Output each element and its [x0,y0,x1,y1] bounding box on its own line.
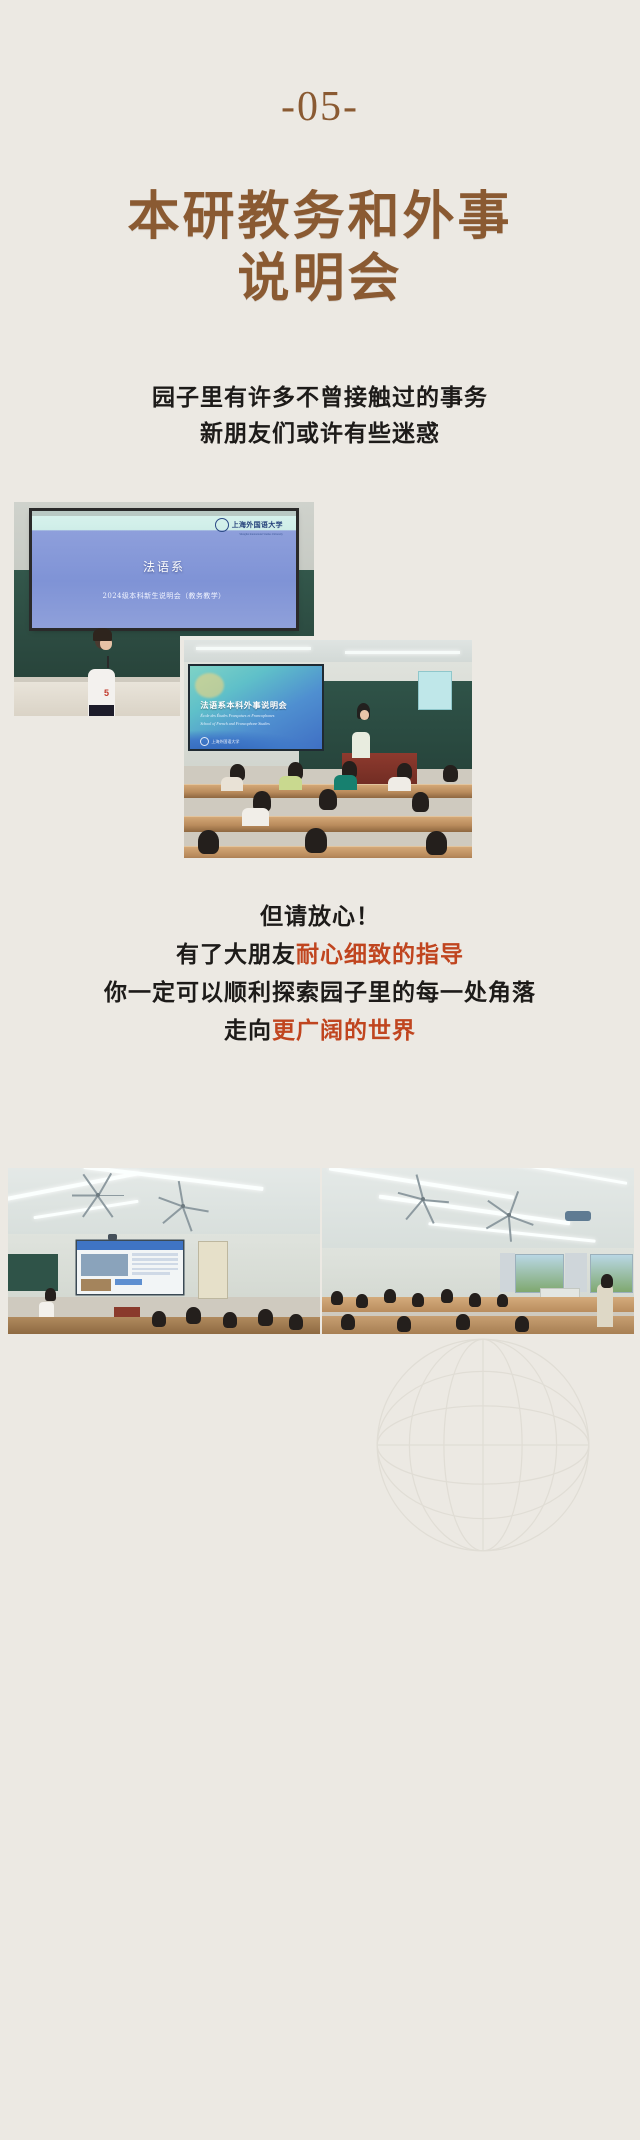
page-title-line1: 本研教务和外事 [127,186,512,247]
reassurance-text-block: 但请放心！ 有了大朋友耐心细致的指导 你一定可以顺利探索园子里的每一处角落 走向… [0,898,640,1050]
globe-watermark-icon [368,1330,598,1560]
midtext-line4-highlight: 更广阔的世界 [272,1017,416,1044]
photo-foreign-affairs-briefing: 法语系本科外事说明会 École des Études Françaises e… [184,640,472,858]
sisu-logo-subtext: Shanghai International Studies Universit… [239,533,282,536]
midtext-line4-prefix: 走向 [224,1017,272,1044]
slide-subtitle-fr: École des Études Françaises et Francopho… [200,713,274,718]
subtitle-line2: 新朋友们或许有些迷惑 [0,416,640,452]
projector-device [565,1211,591,1221]
midtext-line2-highlight: 耐心细致的指导 [296,941,464,968]
projection-screen-foreign-affairs: 法语系本科外事说明会 École des Études Françaises e… [190,666,322,749]
midtext-line2-prefix: 有了大朋友 [176,941,296,968]
sisu-logo: 上海外国语大学 [161,519,282,532]
projection-screen-teaching: 上海外国语大学 Shanghai International Studies U… [32,511,296,629]
sisu-seal-icon [215,518,229,532]
subtitle-block: 园子里有许多不曾接触过的事务 新朋友们或许有些迷惑 [0,380,640,452]
speaker-jersey-number: 5 [104,688,109,698]
sisu-logo-text: 上海外国语大学 [232,520,283,530]
subtitle-line1: 园子里有许多不曾接触过的事务 [0,380,640,416]
audience-rows [184,758,472,858]
projection-screen-left-photo [77,1241,183,1294]
slide-sisu-seal-icon [200,737,209,746]
midtext-line3: 你一定可以顺利探索园子里的每一处角落 [0,974,640,1012]
midtext-line4: 走向更广阔的世界 [0,1012,640,1050]
page-title: 本研教务和外事 说明会 [0,186,640,310]
slide-title-foreign-affairs: 法语系本科外事说明会 [200,699,287,711]
slide-subtitle-teaching: 2024级本科新生说明会（教务教学） [32,591,296,601]
slide-sisu-logo: 上海外国语大学 [200,738,248,745]
midtext-line2: 有了大朋友耐心细致的指导 [0,936,640,974]
page-title-line2: 说明会 [0,248,640,310]
poster-page: -05- 本研教务和外事 说明会 园子里有许多不曾接触过的事务 新朋友们或许有些… [0,0,640,2140]
photo-classroom-wide-right [322,1168,634,1334]
section-number: -05- [0,86,640,128]
slide-subtitle-en: School of French and Francophone Studies [200,721,270,726]
slide-title-teaching: 法语系 [32,558,296,575]
midtext-line1: 但请放心！ [0,898,640,936]
slide-sisu-logo-text: 上海外国语大学 [211,739,239,745]
photo-classroom-presentation-left [8,1168,320,1334]
